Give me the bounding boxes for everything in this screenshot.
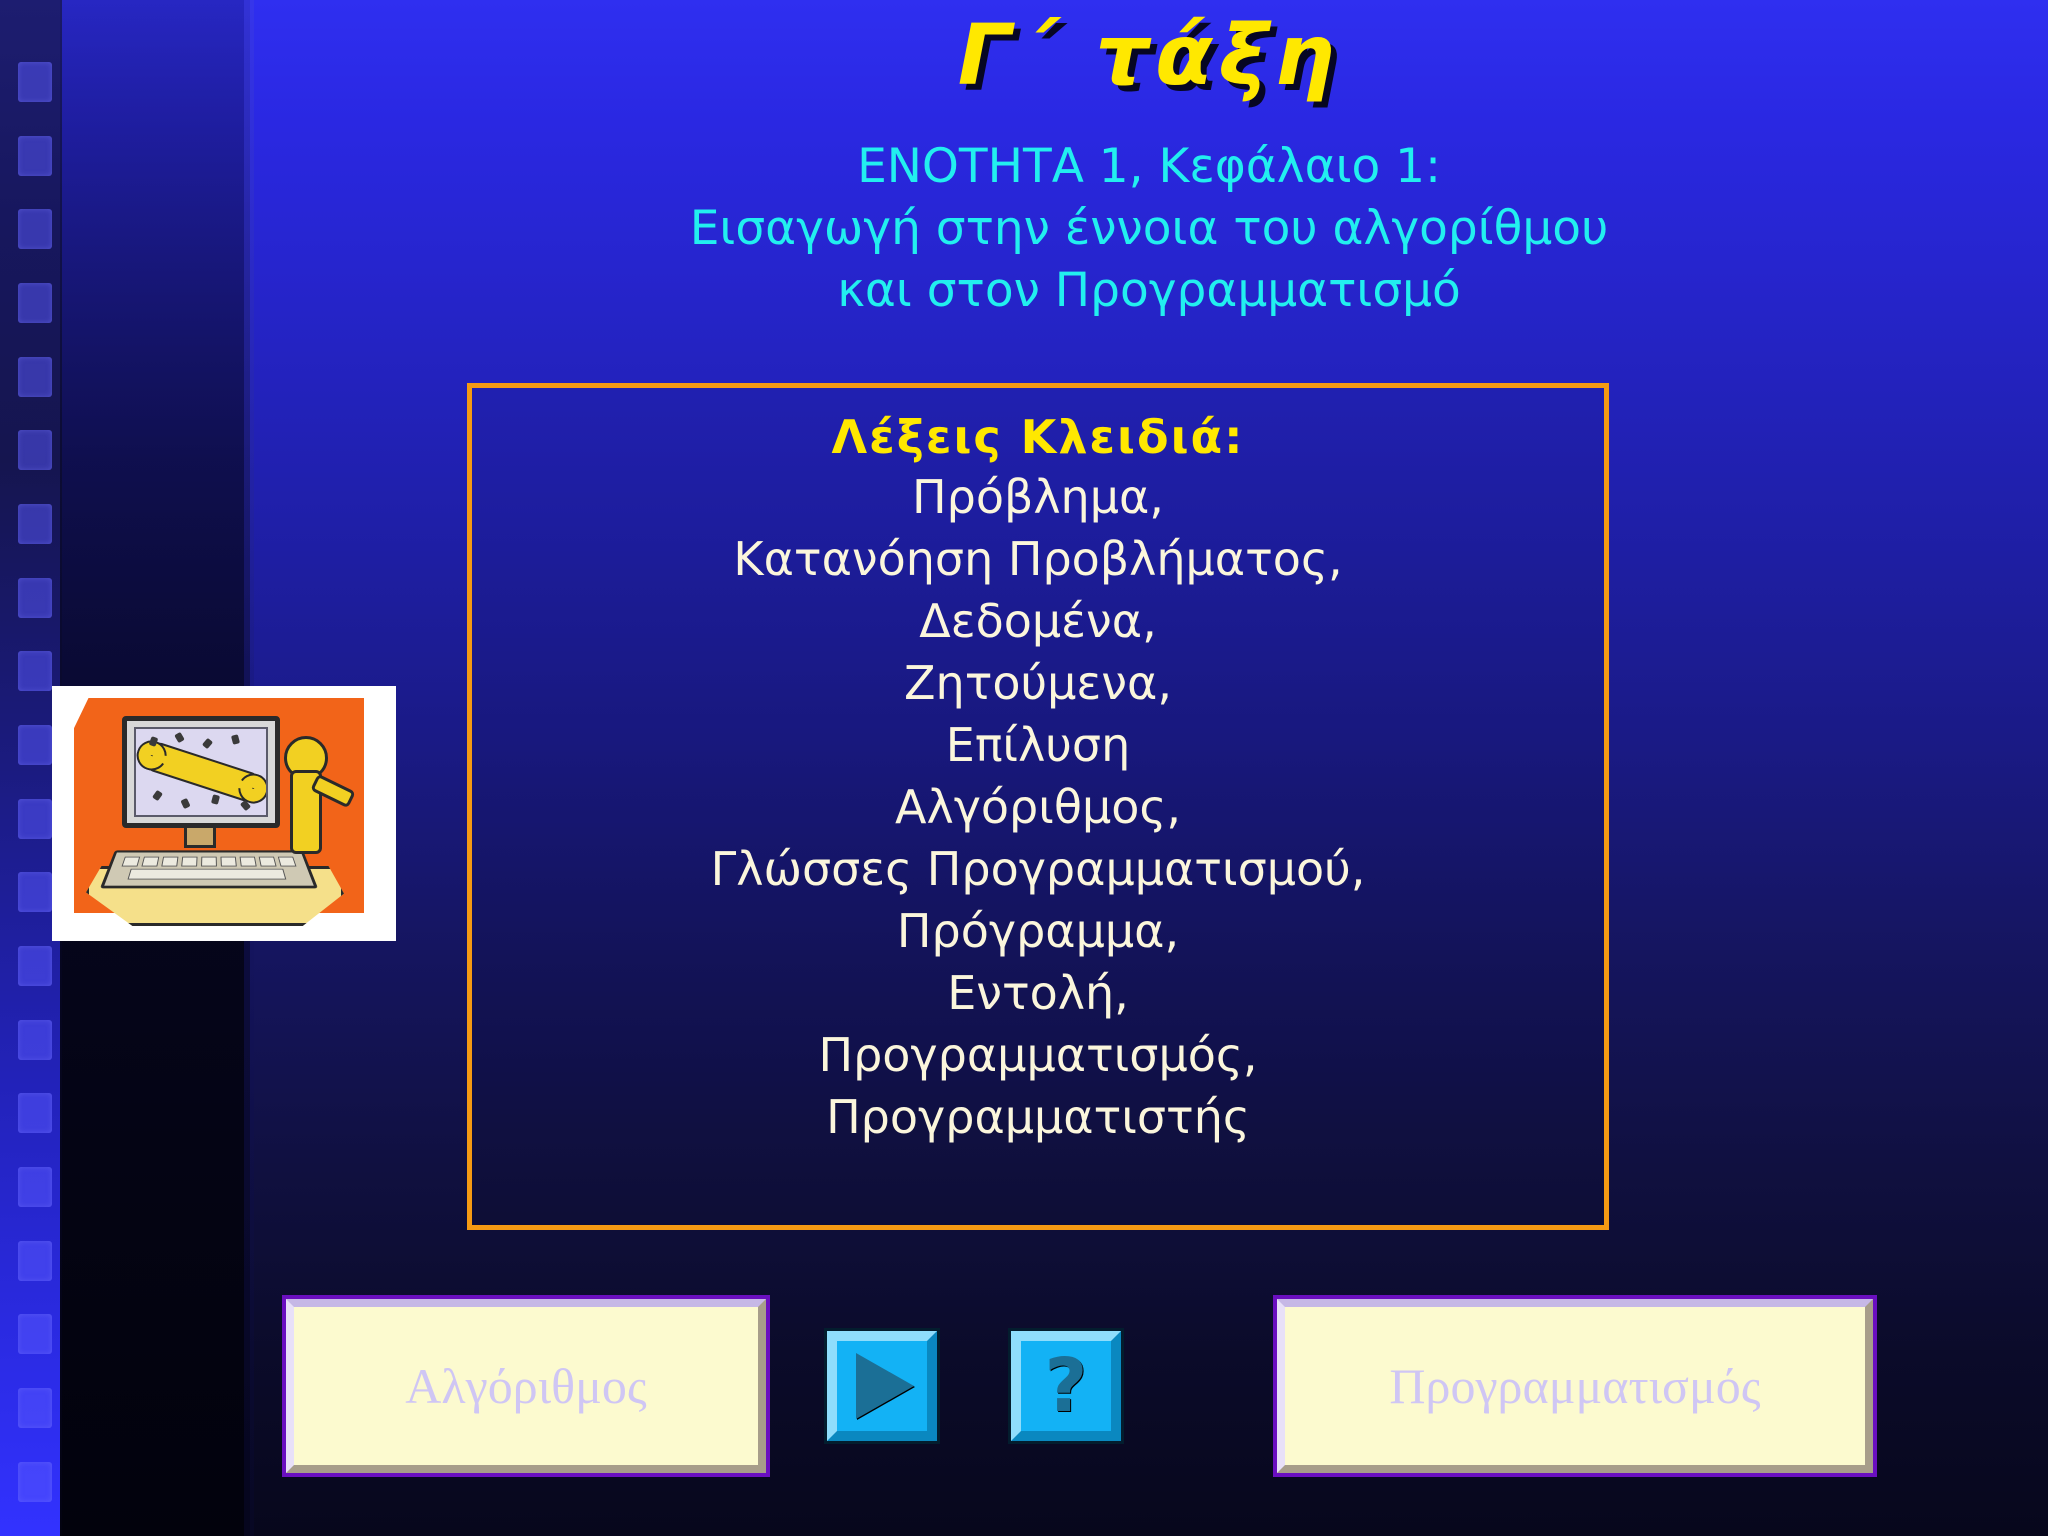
subtitle-line-2: Εισαγωγή στην έννοια του αλγορίθμου (250, 198, 2048, 260)
keyword-item: Γλώσσες Προγραμματισμού, (472, 838, 1604, 900)
sprocket-hole-icon (18, 357, 52, 397)
sprocket-hole-icon (18, 1314, 52, 1354)
sprocket-hole-icon (18, 1093, 52, 1133)
subtitle-line-3: και στον Προγραμματισμό (250, 260, 2048, 322)
sprocket-hole-icon (18, 578, 52, 618)
keyboard-key (141, 857, 159, 867)
sprocket-hole-icon (18, 1020, 52, 1060)
programming-button-label: Προγραμματισμός (1389, 1357, 1760, 1415)
sprocket-hole-icon (18, 946, 52, 986)
sprocket-hole-icon (18, 872, 52, 912)
sprocket-hole-icon (18, 283, 52, 323)
keyword-item: Προγραμματιστής (472, 1086, 1604, 1148)
presentation-slide: Γ΄ τάξη ΕΝΟΤΗΤΑ 1, Κεφάλαιο 1: Εισαγωγή … (0, 0, 2048, 1536)
spark-dot (211, 794, 220, 805)
sprocket-hole-icon (18, 62, 52, 102)
keyword-item: Πρόγραμμα, (472, 900, 1604, 962)
sprocket-hole-icon (18, 209, 52, 249)
wrench-icon (146, 741, 259, 803)
keywords-heading: Λέξεις Κλειδιά: (472, 410, 1604, 464)
spark-dot (180, 798, 190, 809)
sprocket-hole-icon (18, 799, 52, 839)
sprocket-hole-icon (18, 1462, 52, 1502)
keywords-box: Λέξεις Κλειδιά: Πρόβλημα, Κατανόηση Προβ… (467, 383, 1609, 1230)
subtitle-line-1: ΕΝΟΤΗΤΑ 1, Κεφάλαιο 1: (250, 136, 2048, 198)
next-slide-button[interactable] (827, 1331, 937, 1441)
question-mark-icon: ? (1045, 1349, 1088, 1423)
keyboard-key (122, 857, 141, 867)
sprocket-hole-icon (18, 725, 52, 765)
spark-dot (202, 738, 213, 749)
keyword-item: Προγραμματισμός, (472, 1024, 1604, 1086)
sprocket-hole-icon (18, 1167, 52, 1207)
spark-dot (231, 734, 240, 745)
keyword-item: Δεδομένα, (472, 590, 1604, 652)
keyboard-key (220, 857, 236, 867)
sprocket-hole-icon (18, 430, 52, 470)
keyword-item: Αλγόριθμος, (472, 776, 1604, 838)
slide-subtitle: ΕΝΟΤΗΤΑ 1, Κεφάλαιο 1: Εισαγωγή στην ένν… (250, 136, 2048, 322)
keyboard-key (201, 857, 217, 867)
algorithm-button-label: Αλγόριθμος (405, 1357, 646, 1415)
keyboard-icon (100, 850, 318, 888)
programming-button[interactable]: Προγραμματισμός (1277, 1299, 1873, 1473)
algorithm-button[interactable]: Αλγόριθμος (286, 1299, 766, 1473)
sprocket-hole-icon (18, 1388, 52, 1428)
keyboard-key (240, 857, 257, 867)
keyboard-key (278, 857, 297, 867)
clipart-inner (62, 694, 386, 934)
keyboard-key (259, 857, 277, 867)
keyword-item: Εντολή, (472, 962, 1604, 1024)
spark-dot (152, 790, 163, 801)
keyboard-key (161, 857, 178, 867)
slide-title: Γ΄ τάξη (250, 6, 2048, 104)
spark-dot (174, 732, 185, 743)
keyword-item: Ζητούμενα, (472, 652, 1604, 714)
keyword-item: Πρόβλημα, (472, 466, 1604, 528)
monitor-icon (122, 716, 280, 828)
help-button[interactable]: ? (1011, 1331, 1121, 1441)
sprocket-hole-icon (18, 504, 52, 544)
sprocket-hole-icon (18, 651, 52, 691)
sprocket-hole-icon (18, 136, 52, 176)
keywords-list: Πρόβλημα, Κατανόηση Προβλήματος, Δεδομέν… (472, 466, 1604, 1148)
play-triangle-icon (856, 1353, 914, 1419)
keyword-item: Επίλυση (472, 714, 1604, 776)
sprocket-hole-icon (18, 1241, 52, 1281)
monitor-screen (134, 727, 268, 817)
keyword-item: Κατανόηση Προβλήματος, (472, 528, 1604, 590)
computer-repair-clipart (52, 686, 396, 941)
filmstrip-sprocket-holes (18, 0, 52, 1536)
keyboard-key (181, 857, 197, 867)
keyboard-spacebar (127, 869, 286, 880)
